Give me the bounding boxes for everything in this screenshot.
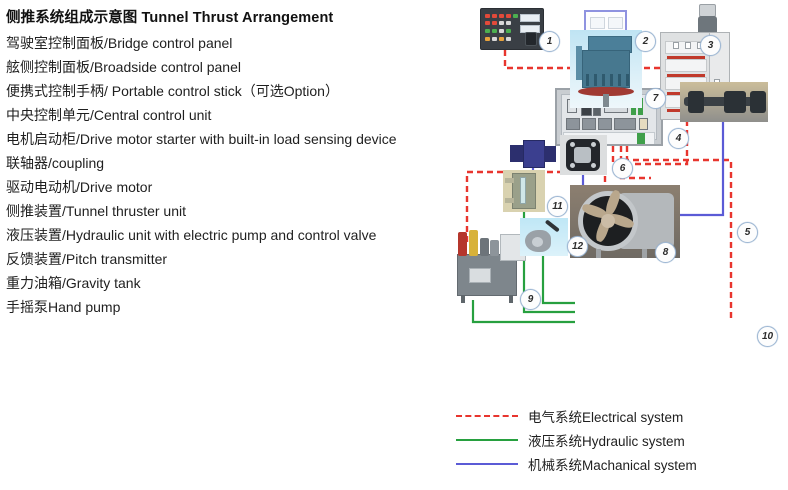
specification-panel: 侧推系统组成示意图 Tunnel Thrust Arrangement 驾驶室控… xyxy=(6,6,456,324)
component-badge-3: 3 xyxy=(700,35,721,56)
spec-item-hydraulic-unit: 液压装置/Hydraulic unit with electric pump a… xyxy=(6,228,456,242)
legend-label-hydraulic: 液压系统Hydraulic system xyxy=(528,430,685,450)
legend-item-hydraulic: 液压系统Hydraulic system xyxy=(452,428,788,452)
component-badge-6: 6 xyxy=(612,158,633,179)
spec-item-broadside-control-panel: 舷侧控制面板/Broadside control panel xyxy=(6,60,456,74)
component-badge-1: 1 xyxy=(539,31,560,52)
spec-item-gravity-tank: 重力油箱/Gravity tank xyxy=(6,276,456,290)
legend-item-electrical: 电气系统Electrical system xyxy=(452,404,788,428)
legend-label-electrical: 电气系统Electrical system xyxy=(528,406,683,426)
spec-item-hand-pump: 手摇泵Hand pump xyxy=(6,300,456,314)
spec-item-coupling: 联轴器/coupling xyxy=(6,156,456,170)
legend-swatch-hydraulic-icon xyxy=(456,439,518,441)
pitch-transmitter-image xyxy=(680,82,768,122)
legend-swatch-electrical-icon xyxy=(456,415,518,417)
component-badge-10: 10 xyxy=(757,326,778,347)
component-badge-2: 2 xyxy=(635,31,656,52)
hand-pump-image xyxy=(520,218,568,256)
component-badge-7: 7 xyxy=(645,88,666,109)
component-badge-8: 8 xyxy=(655,242,676,263)
drive-motor-image xyxy=(570,30,642,108)
spec-item-pitch-transmitter: 反馈装置/Pitch transmitter xyxy=(6,252,456,266)
spec-item-central-control-unit: 中央控制单元/Central control unit xyxy=(6,108,456,122)
component-badge-11: 11 xyxy=(547,196,568,217)
component-badge-4: 4 xyxy=(668,128,689,149)
component-badge-12: 12 xyxy=(567,236,588,257)
legend: 电气系统Electrical system 液压系统Hydraulic syst… xyxy=(452,404,788,476)
component-badge-5: 5 xyxy=(737,222,758,243)
spec-item-drive-motor: 驱动电动机/Drive motor xyxy=(6,180,456,194)
pitch-transmitter-block-image xyxy=(510,140,556,168)
spec-item-portable-control-stick: 便携式控制手柄/ Portable control stick（可选Option… xyxy=(6,84,456,98)
component-badge-9: 9 xyxy=(520,289,541,310)
page-title: 侧推系统组成示意图 Tunnel Thrust Arrangement xyxy=(6,6,456,27)
spec-item-drive-motor-starter: 电机启动柜/Drive motor starter with built-in … xyxy=(6,132,456,146)
spec-item-tunnel-thruster-unit: 侧推装置/Tunnel thruster unit xyxy=(6,204,456,218)
legend-item-mechanical: 机械系统Machanical system xyxy=(452,452,788,476)
coupling-image xyxy=(560,135,607,175)
legend-label-mechanical: 机械系统Machanical system xyxy=(528,454,697,474)
gravity-tank-image xyxy=(503,170,545,212)
bridge-control-panel-image xyxy=(480,8,544,50)
spec-item-bridge-control-panel: 驾驶室控制面板/Bridge control panel xyxy=(6,36,456,50)
legend-swatch-mechanical-icon xyxy=(456,463,518,465)
system-diagram: 1 2 3 4 xyxy=(455,0,788,400)
